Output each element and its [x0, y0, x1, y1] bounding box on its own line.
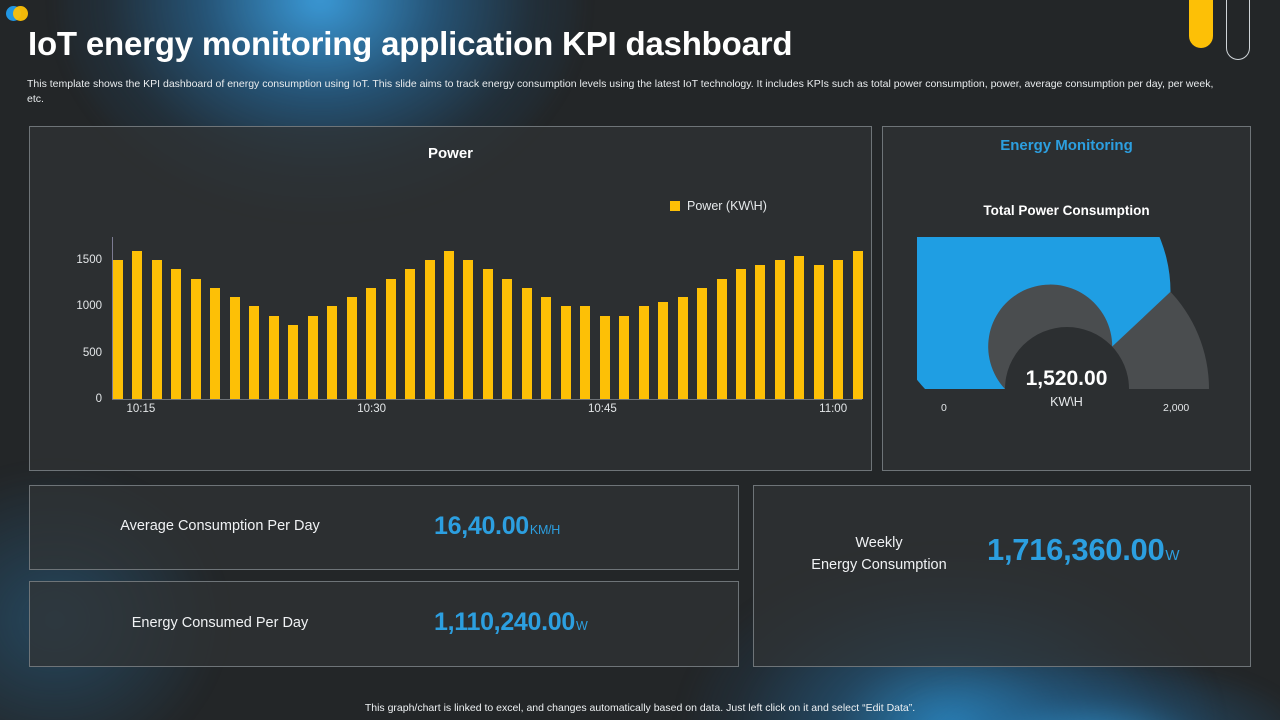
power-chart-panel: Power Power (KW\H) 050010001500 10:1510:… — [29, 126, 872, 471]
bar — [775, 260, 785, 399]
bar — [814, 265, 824, 399]
energy-monitoring-panel: Energy Monitoring Total Power Consumptio… — [882, 126, 1251, 471]
bar — [405, 269, 415, 399]
kpi-label: Average Consumption Per Day — [90, 518, 350, 534]
brand-dots-logo — [6, 6, 46, 22]
bar — [619, 316, 629, 399]
u-shape-outline-decoration — [1226, 0, 1250, 60]
bar — [191, 279, 201, 399]
x-axis-tick: 10:15 — [126, 403, 155, 415]
u-shape-filled-decoration — [1189, 0, 1213, 48]
bar — [132, 251, 142, 399]
kpi-value-unit: KM/H — [530, 523, 560, 537]
kpi-value-wrap: 16,40.00KM/H — [434, 512, 560, 541]
gauge-min-label: 0 — [941, 402, 947, 414]
bar — [678, 297, 688, 399]
kpi-value-number: 1,110,240.00 — [434, 608, 575, 636]
bar — [113, 260, 123, 399]
bar — [463, 260, 473, 399]
legend-label-power: Power (KW\H) — [687, 199, 767, 213]
bar — [425, 260, 435, 399]
bar — [853, 251, 863, 399]
bar — [658, 302, 668, 399]
kpi-value-wrap: 1,110,240.00W — [434, 608, 588, 637]
gauge-value-text: 1,520.00 — [883, 367, 1250, 391]
x-axis-tick: 10:45 — [588, 403, 617, 415]
bar-series-power — [113, 237, 863, 399]
y-axis-tick: 500 — [52, 347, 102, 359]
kpi-label: Energy Consumed Per Day — [90, 615, 350, 631]
bar — [171, 269, 181, 399]
gauge-max-label: 2,000 — [1163, 402, 1189, 414]
bar — [580, 306, 590, 399]
gauge-panel-title: Energy Monitoring — [883, 137, 1250, 154]
kpi-value-unit: W — [1165, 547, 1179, 564]
chart-title: Power — [30, 145, 871, 162]
kpi-label-line: Energy Consumption — [764, 554, 994, 576]
kpi-card-weekly-energy-consumption: WeeklyEnergy Consumption 1,716,360.00W — [753, 485, 1251, 667]
bar — [230, 297, 240, 399]
page-title: IoT energy monitoring application KPI da… — [28, 22, 1158, 66]
x-axis-tick: 11:00 — [819, 403, 847, 415]
gauge-subtitle: Total Power Consumption — [883, 203, 1250, 218]
bar — [561, 306, 571, 399]
page-subtitle: This template shows the KPI dashboard of… — [27, 77, 1219, 107]
y-axis-labels: 050010001500 — [56, 237, 108, 397]
kpi-label: WeeklyEnergy Consumption — [764, 532, 994, 576]
bar — [794, 256, 804, 399]
bar — [522, 288, 532, 399]
chart-legend: Power (KW\H) — [670, 199, 767, 213]
bar — [541, 297, 551, 399]
kpi-label-line: Weekly — [764, 532, 994, 554]
bar — [288, 325, 298, 399]
bar — [249, 306, 259, 399]
y-axis-tick: 1500 — [52, 254, 102, 266]
y-axis-tick: 1000 — [52, 300, 102, 312]
bar — [483, 269, 493, 399]
kpi-card-average-consumption-per-day: Average Consumption Per Day 16,40.00KM/H — [29, 485, 739, 570]
bar — [366, 288, 376, 399]
kpi-value-number: 1,716,360.00 — [987, 532, 1164, 567]
gauge-unit-text: KW\H — [883, 395, 1250, 409]
x-axis-line — [112, 399, 862, 400]
bar — [639, 306, 649, 399]
footer-note: This graph/chart is linked to excel, and… — [0, 702, 1280, 714]
bar — [600, 316, 610, 399]
y-axis-tick: 0 — [52, 393, 102, 405]
x-axis-tick: 10:30 — [357, 403, 386, 415]
kpi-value-unit: W — [576, 619, 588, 633]
slide-canvas: IoT energy monitoring application KPI da… — [0, 0, 1280, 720]
x-axis-labels: 10:1510:3010:4511:00 — [112, 403, 864, 423]
kpi-card-energy-consumed-per-day: Energy Consumed Per Day 1,110,240.00W — [29, 581, 739, 667]
bar — [152, 260, 162, 399]
bar — [755, 265, 765, 399]
legend-swatch-power — [670, 201, 680, 211]
bar — [308, 316, 318, 399]
kpi-value-number: 16,40.00 — [434, 512, 529, 540]
bar — [386, 279, 396, 399]
bar — [502, 279, 512, 399]
bar — [717, 279, 727, 399]
bar — [833, 260, 843, 399]
bar — [327, 306, 337, 399]
bar — [210, 288, 220, 399]
kpi-value-wrap: 1,716,360.00W — [987, 532, 1179, 568]
bar — [736, 269, 746, 399]
yellow-dot-icon — [13, 6, 28, 21]
bar — [347, 297, 357, 399]
bar — [269, 316, 279, 399]
bar — [444, 251, 454, 399]
bar — [697, 288, 707, 399]
bar-chart-plot-area: 050010001500 10:1510:3010:4511:00 — [56, 237, 856, 432]
